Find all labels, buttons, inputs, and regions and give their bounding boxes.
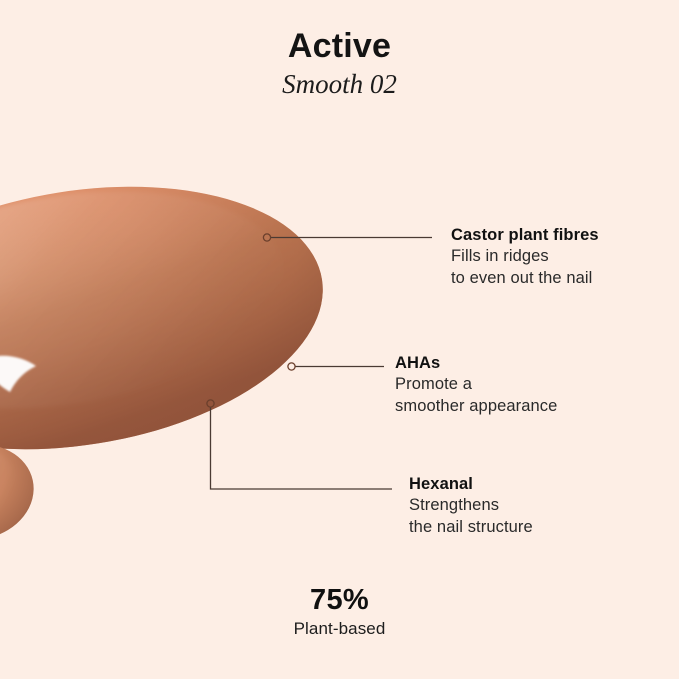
callout-description-line-2: smoother appearance xyxy=(395,396,557,418)
leader-hexanal xyxy=(207,400,392,489)
leader-line-hexanal xyxy=(211,407,393,489)
product-ingredient-infographic: Active Smooth 02 Castor plant fibres Fil… xyxy=(0,0,679,679)
header: Active Smooth 02 xyxy=(0,28,679,100)
callout-ahas: AHAs Promote a smoother appearance xyxy=(395,352,557,418)
stat-label: Plant-based xyxy=(0,619,679,639)
callout-leader-lines xyxy=(0,0,679,679)
callout-title: AHAs xyxy=(395,352,557,374)
footer-stat: 75% Plant-based xyxy=(0,584,679,640)
callout-description-line-2: the nail structure xyxy=(409,517,533,539)
page-subtitle: Smooth 02 xyxy=(0,70,679,100)
page-title: Active xyxy=(0,28,679,65)
callout-castor-plant-fibres: Castor plant fibres Fills in ridges to e… xyxy=(451,224,599,290)
leader-ahas xyxy=(288,363,384,370)
callout-marker-ahas[interactable] xyxy=(288,363,295,370)
callout-marker-castor[interactable] xyxy=(263,234,270,241)
callout-description-line-1: Fills in ridges xyxy=(451,246,599,268)
callout-hexanal: Hexanal Strengthens the nail structure xyxy=(409,473,533,539)
callout-description-line-1: Strengthens xyxy=(409,495,533,517)
callout-description-line-2: to even out the nail xyxy=(451,268,599,290)
stat-value: 75% xyxy=(0,584,679,616)
callout-marker-hexanal[interactable] xyxy=(207,400,214,407)
leader-castor xyxy=(263,234,432,241)
callout-title: Hexanal xyxy=(409,473,533,495)
callout-description-line-1: Promote a xyxy=(395,374,557,396)
callout-title: Castor plant fibres xyxy=(451,224,599,246)
